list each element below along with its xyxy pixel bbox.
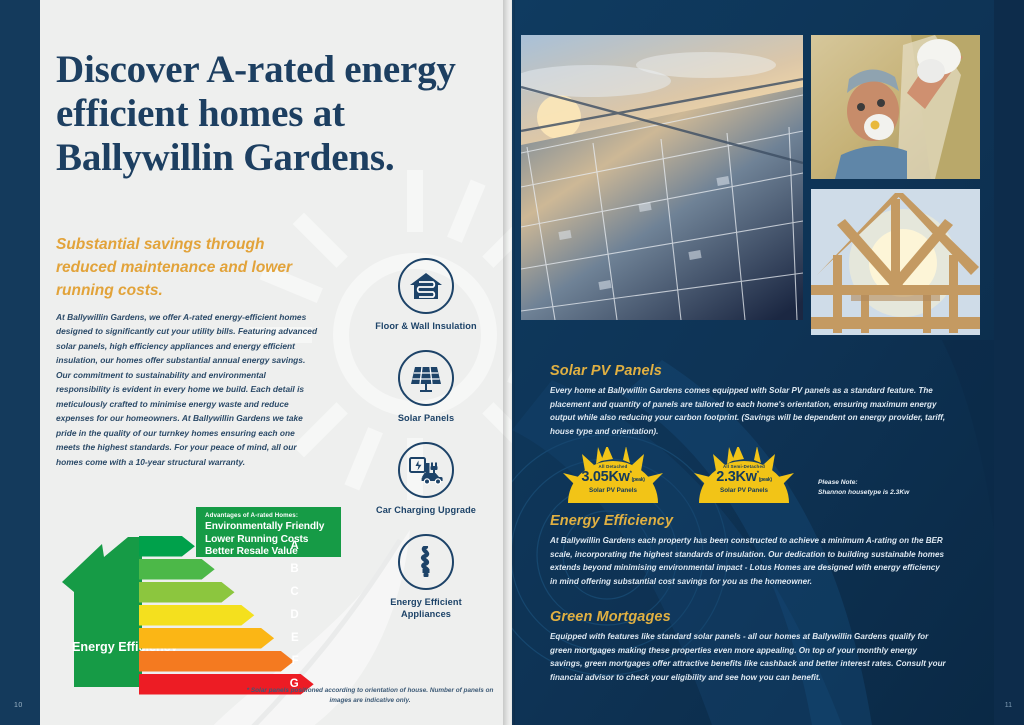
energy-bar-a: A xyxy=(139,536,315,557)
energy-rating-bars: ABCDEFG xyxy=(139,536,315,697)
page-number-right: 11 xyxy=(1005,702,1012,709)
feature-label: Energy Efficient Appliances xyxy=(368,597,484,621)
energy-bar-e: E xyxy=(139,628,315,649)
solar-panel-icon xyxy=(398,350,454,406)
timber-roof-truss-photo xyxy=(811,189,980,335)
feature-label: Car Charging Upgrade xyxy=(368,505,484,517)
section-body: At Ballywillin Gardens each property has… xyxy=(550,534,948,588)
energy-bar-b: B xyxy=(139,559,315,580)
energy-bar-letter: B xyxy=(290,563,298,575)
section-solar-pv-panels: Solar PV Panels Every home at Ballywilli… xyxy=(550,363,948,438)
badge-value: 2.3Kw*(peak) xyxy=(685,469,803,485)
badge-sub-label: Solar PV Panels xyxy=(554,487,672,494)
badge-semi-detached: All Semi-Detached 2.3Kw*(peak) Solar PV … xyxy=(685,447,803,503)
please-note-label: Please Note: xyxy=(818,478,968,488)
energy-bar-c: C xyxy=(139,582,315,603)
section-energy-efficiency: Energy Efficiency At Ballywillin Gardens… xyxy=(550,513,948,588)
right-page-edge-band xyxy=(994,0,1024,725)
page-number-left: 10 xyxy=(14,702,23,709)
feature-item-solar-panels[interactable]: Solar Panels xyxy=(368,350,484,425)
worker-installing-insulation-photo xyxy=(811,35,980,179)
section-title: Green Mortgages xyxy=(550,609,948,625)
left-page-edge-band xyxy=(0,0,40,725)
advantage-line: Environmentally Friendly xyxy=(205,521,334,534)
brochure-spread: 10 Discover A-rated energy efficient hom… xyxy=(0,0,1024,725)
left-page: 10 Discover A-rated energy efficient hom… xyxy=(0,0,512,725)
car-charging-icon xyxy=(398,442,454,498)
section-body: Every home at Ballywillin Gardens comes … xyxy=(550,384,948,438)
feature-label: Floor & Wall Insulation xyxy=(368,321,484,333)
house-silhouette xyxy=(62,534,142,687)
energy-bar-letter: C xyxy=(290,586,298,598)
intro-paragraph-2: Our commitment to sustainability and env… xyxy=(56,368,318,469)
feature-item-insulation[interactable]: Floor & Wall Insulation xyxy=(368,258,484,333)
energy-bulb-icon xyxy=(398,534,454,590)
solar-panels-at-sunset-photo xyxy=(521,35,803,320)
section-green-mortgages: Green Mortgages Equipped with features l… xyxy=(550,609,948,684)
advantages-title: Advantages of A-rated Homes: xyxy=(205,512,334,519)
please-note-text: Shannon housetype is 2.3Kw xyxy=(818,488,968,498)
section-title: Solar PV Panels xyxy=(550,363,948,379)
house-insulation-icon xyxy=(398,258,454,314)
energy-bar-letter: D xyxy=(290,609,298,621)
energy-bar-d: D xyxy=(139,605,315,626)
energy-bar-letter: A xyxy=(290,540,298,552)
section-title: Energy Efficiency xyxy=(550,513,948,529)
badge-sub-label: Solar PV Panels xyxy=(685,487,803,494)
energy-bar-f: F xyxy=(139,651,315,672)
energy-efficiency-chart: Advantages of A-rated Homes: Environment… xyxy=(62,510,362,690)
feature-icon-list: Floor & Wall Insulation xyxy=(368,258,484,638)
intro-paragraph-1: At Ballywillin Gardens, we offer A-rated… xyxy=(56,310,318,368)
page-title: Discover A-rated energy efficient homes … xyxy=(56,48,456,180)
badge-detached: All Detached 3.05Kw*(peak) Solar PV Pane… xyxy=(554,447,672,503)
feature-label: Solar Panels xyxy=(368,413,484,425)
section-body: Equipped with features like standard sol… xyxy=(550,630,948,684)
footnote: * Solar panels positioned according to o… xyxy=(240,686,500,707)
badge-value: 3.05Kw*(peak) xyxy=(554,469,672,485)
subheading: Substantial savings through reduced main… xyxy=(56,234,316,303)
please-note: Please Note: Shannon housetype is 2.3Kw xyxy=(818,478,968,498)
energy-bar-letter: F xyxy=(292,655,299,667)
energy-bar-letter: E xyxy=(291,632,299,644)
feature-item-car-charging[interactable]: Car Charging Upgrade xyxy=(368,442,484,517)
feature-item-energy-appliances[interactable]: Energy Efficient Appliances xyxy=(368,534,484,621)
right-page: Solar PV Panels Every home at Ballywilli… xyxy=(512,0,1024,725)
